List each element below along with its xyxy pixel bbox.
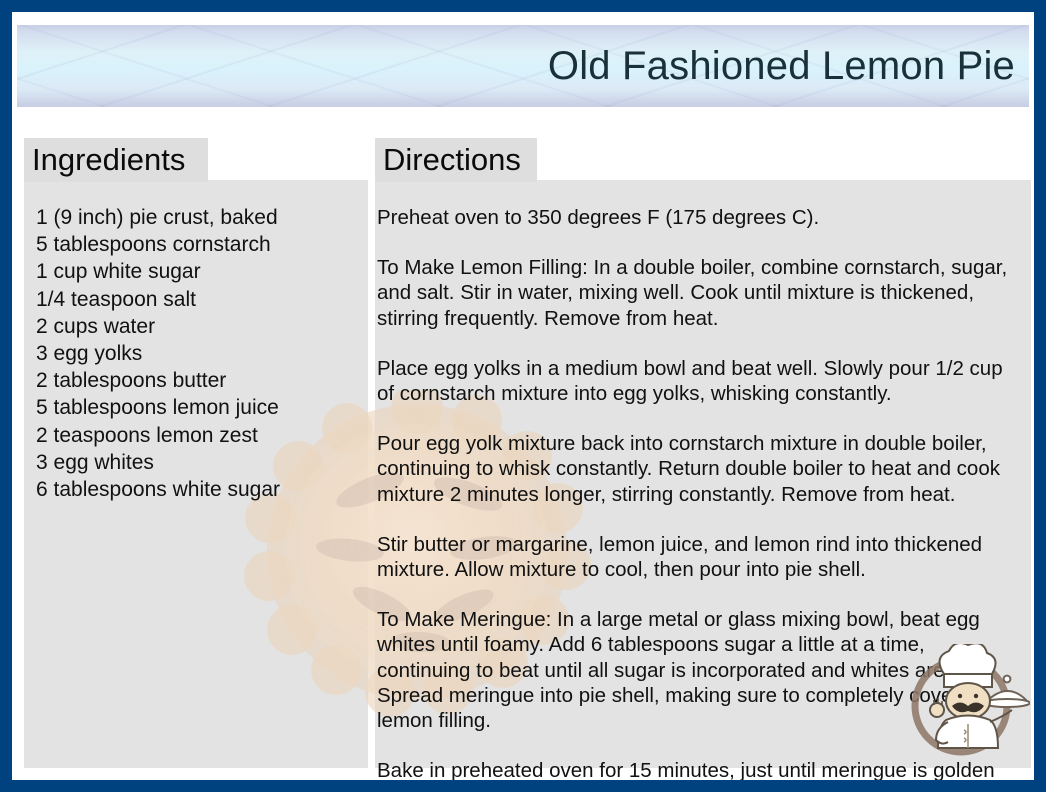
ingredient-item: 2 cups water <box>36 313 366 340</box>
recipe-slide: Old Fashioned Lemon Pie <box>0 0 1046 792</box>
direction-paragraph: To Make Meringue: In a large metal or gl… <box>377 607 1020 733</box>
direction-paragraph: Pour egg yolk mixture back into cornstar… <box>377 431 1020 507</box>
ingredient-item: 3 egg whites <box>36 449 366 476</box>
ingredient-item: 3 egg yolks <box>36 340 366 367</box>
direction-paragraph: To Make Lemon Filling: In a double boile… <box>377 255 1020 331</box>
direction-paragraph: Preheat oven to 350 degrees F (175 degre… <box>377 205 1020 230</box>
ingredient-item: 1 cup white sugar <box>36 258 366 285</box>
ingredients-list: 1 (9 inch) pie crust, baked5 tablespoons… <box>36 204 366 503</box>
direction-paragraph: Place egg yolks in a medium bowl and bea… <box>377 356 1020 406</box>
ingredient-item: 5 tablespoons cornstarch <box>36 231 366 258</box>
ingredient-item: 1 (9 inch) pie crust, baked <box>36 204 366 231</box>
ingredients-heading: Ingredients <box>24 138 208 182</box>
directions-list: Preheat oven to 350 degrees F (175 degre… <box>377 205 1025 780</box>
ingredient-item: 6 tablespoons white sugar <box>36 476 366 503</box>
ingredient-item: 5 tablespoons lemon juice <box>36 394 366 421</box>
ingredient-item: 1/4 teaspoon salt <box>36 286 366 313</box>
ingredient-item: 2 tablespoons butter <box>36 367 366 394</box>
title-banner: Old Fashioned Lemon Pie <box>17 25 1029 107</box>
directions-heading: Directions <box>375 138 537 182</box>
direction-paragraph: Bake in preheated oven for 15 minutes, j… <box>377 758 1020 780</box>
direction-paragraph: Stir butter or margarine, lemon juice, a… <box>377 532 1020 582</box>
page-title: Old Fashioned Lemon Pie <box>548 45 1015 87</box>
slide-canvas: Old Fashioned Lemon Pie <box>12 12 1034 780</box>
ingredient-item: 2 teaspoons lemon zest <box>36 422 366 449</box>
